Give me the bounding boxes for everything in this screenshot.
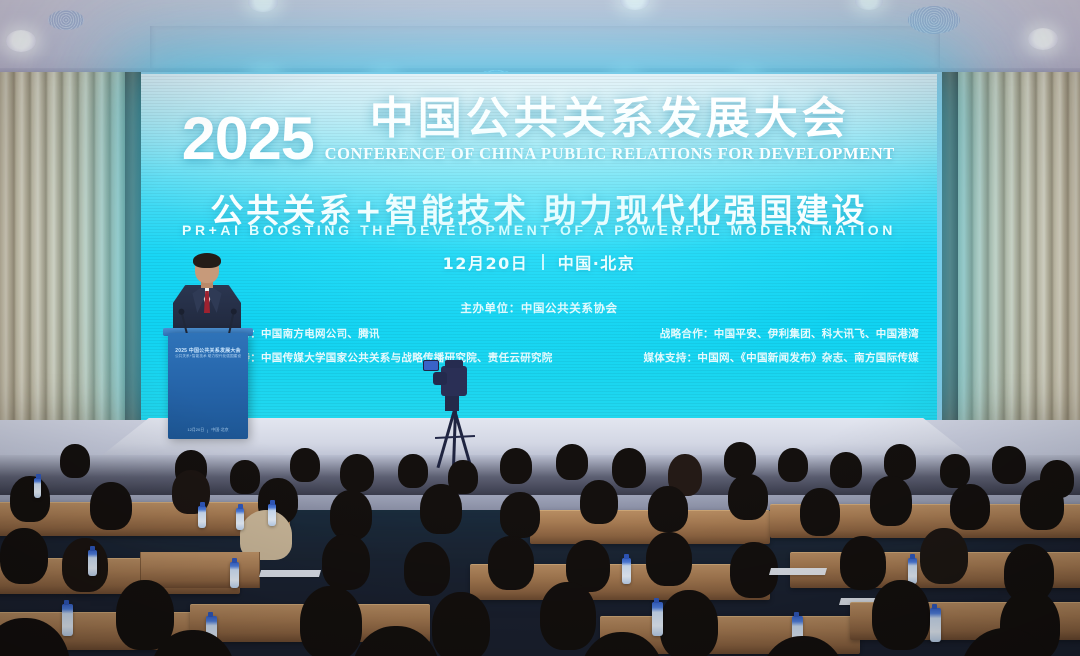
- audience-area: [0, 440, 1080, 656]
- audience-head: [500, 492, 540, 538]
- audience-head: [612, 448, 646, 488]
- event-credits: 特别支持：中国南方电网公司、腾讯 战略合作：中国平安、伊利集团、科大讯飞、中国港…: [159, 326, 919, 374]
- event-subtitle-english: PR+AI BOOSTING THE DEVELOPMENT OF A POWE…: [141, 222, 937, 238]
- credit-media-support: 媒体支持：中国网、《中国新闻发布》杂志、南方国际传媒: [643, 350, 919, 365]
- audience-head: [648, 486, 688, 532]
- audience-head: [872, 580, 930, 650]
- tripod-head: [445, 395, 459, 411]
- water-bottle: [198, 506, 206, 528]
- podium-footer: 12月20日 | 中国·北京: [176, 426, 240, 434]
- audience-head: [556, 444, 588, 480]
- audience-head: [540, 582, 596, 650]
- water-bottle: [930, 608, 941, 642]
- water-bottle: [230, 562, 239, 588]
- event-title-english: CONFERENCE OF CHINA PUBLIC RELATIONS FOR…: [325, 144, 895, 164]
- water-bottle: [34, 478, 41, 498]
- podium: 2025 中国公共关系发展大会 公共关系+智能技术 助力现代化强国建设 12月2…: [168, 333, 248, 439]
- camera-top-handle: [445, 360, 463, 368]
- event-date: 12月20日: [443, 250, 529, 274]
- audience-head: [580, 480, 618, 524]
- audience-head: [646, 532, 692, 586]
- audience-head: [1020, 480, 1064, 530]
- led-backdrop-screen: 2025 中国公共关系发展大会 CONFERENCE OF CHINA PUBL…: [141, 74, 937, 422]
- credit-row: 学术支持：中国传媒大学国家公共关系与战略传播研究院、责任云研究院 媒体支持：中国…: [159, 350, 919, 365]
- date-location-divider: [542, 254, 544, 270]
- wall-trim-left: [125, 72, 141, 440]
- audience-head: [60, 444, 90, 478]
- audience-head: [500, 448, 532, 484]
- ceiling-soffit: [150, 26, 940, 72]
- camera-monitor: [423, 360, 439, 371]
- audience-head: [330, 490, 372, 540]
- audience-head: [940, 454, 970, 488]
- audience-head: [830, 452, 862, 488]
- audience-head: [432, 592, 490, 656]
- ceiling-downlight: [6, 30, 36, 52]
- speaker-hair: [193, 253, 221, 268]
- audience-head: [340, 454, 374, 492]
- main-title-row: 2025 中国公共关系发展大会 CONFERENCE OF CHINA PUBL…: [141, 96, 937, 164]
- audience-head: [950, 484, 990, 530]
- credit-strategic-partners: 战略合作：中国平安、伊利集团、科大讯飞、中国港湾: [660, 326, 919, 341]
- ceiling-speaker: [48, 10, 84, 30]
- water-bottle: [268, 504, 276, 526]
- event-title-chinese: 中国公共关系发展大会: [370, 96, 850, 142]
- audience-head: [840, 536, 886, 590]
- date-location-bar: 12月20日 中国·北京: [141, 250, 937, 274]
- camera-lens: [433, 372, 447, 385]
- audience-head: [728, 474, 768, 520]
- speaker-person: [171, 255, 243, 339]
- audience-head: [660, 590, 718, 656]
- podium-date: 12月20日: [187, 427, 204, 433]
- conference-photo: 2025 中国公共关系发展大会 CONFERENCE OF CHINA PUBL…: [0, 0, 1080, 656]
- water-bottle: [908, 558, 917, 584]
- podium-location: 中国·北京: [211, 427, 228, 433]
- audience-head: [290, 448, 320, 482]
- audience-head: [724, 442, 756, 478]
- audience-head: [10, 476, 50, 522]
- audience-head: [800, 488, 840, 536]
- audience-head: [230, 460, 260, 494]
- audience-head: [90, 482, 132, 530]
- wood-slat-wall-left: [0, 72, 125, 440]
- audience-head: [300, 586, 362, 656]
- desk-paper: [259, 570, 321, 577]
- audience-head: [0, 528, 48, 584]
- ceiling-speaker: [908, 6, 960, 34]
- audience-head: [778, 448, 808, 482]
- audience-head: [488, 536, 534, 590]
- podium-divider: |: [207, 428, 208, 433]
- credit-row: 特别支持：中国南方电网公司、腾讯 战略合作：中国平安、伊利集团、科大讯飞、中国港…: [159, 326, 919, 341]
- audience-head: [992, 446, 1026, 484]
- audience-head: [870, 476, 912, 526]
- water-bottle: [62, 604, 73, 636]
- audience-head: [62, 538, 108, 592]
- audience-head: [920, 528, 968, 584]
- desk-paper: [769, 568, 827, 575]
- ceiling-downlight: [1028, 28, 1058, 50]
- audience-head: [884, 444, 916, 480]
- event-location: 中国·北京: [558, 250, 636, 274]
- event-host-organization: 主办单位：中国公共关系协会: [141, 300, 937, 316]
- audience-head: [322, 534, 370, 590]
- audience-head: [398, 454, 428, 488]
- water-bottle: [622, 558, 631, 584]
- podium-logo-line2: 公共关系+智能技术 助力现代化强国建设: [175, 354, 241, 359]
- event-year: 2025: [182, 113, 314, 165]
- podium-logo: 2025 中国公共关系发展大会 公共关系+智能技术 助力现代化强国建设: [173, 343, 243, 363]
- water-bottle: [88, 550, 97, 576]
- audience-head: [420, 484, 462, 534]
- wall-trim-right: [942, 72, 958, 440]
- wood-slat-wall-right: [958, 72, 1080, 440]
- water-bottle: [236, 508, 244, 530]
- audience-head: [404, 542, 450, 596]
- water-bottle: [652, 602, 663, 636]
